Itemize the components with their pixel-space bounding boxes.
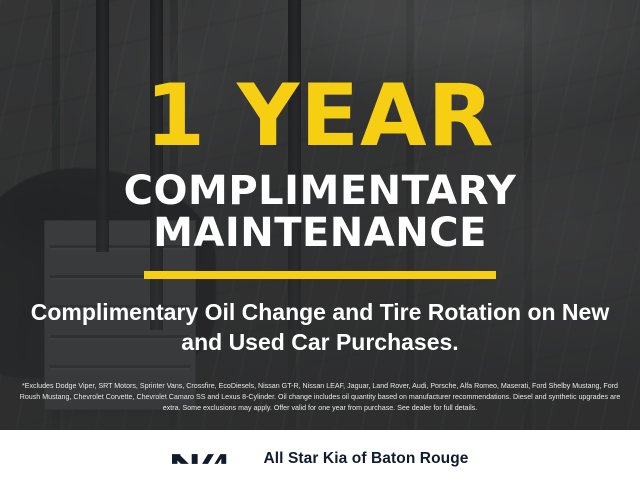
disclaimer-fine-print: *Excludes Dodge Viper, SRT Motors, Sprin… <box>3 381 637 413</box>
footer-bar: All Star Kia of Baton Rouge <box>0 430 640 488</box>
headline-complimentary: COMPLIMENTARY <box>124 170 517 213</box>
headline-maintenance: MAINTENANCE <box>153 212 487 255</box>
promo-banner: 1 YEAR COMPLIMENTARY MAINTENANCE Complim… <box>0 0 640 488</box>
subheadline-text: Complimentary Oil Change and Tire Rotati… <box>20 298 620 357</box>
dealer-name: All Star Kia of Baton Rouge <box>263 450 468 468</box>
yellow-divider-bar <box>144 271 496 279</box>
kia-logo <box>171 449 245 469</box>
headline-year: 1 YEAR <box>145 76 495 158</box>
hero-section: 1 YEAR COMPLIMENTARY MAINTENANCE Complim… <box>0 0 640 430</box>
hero-content: 1 YEAR COMPLIMENTARY MAINTENANCE Complim… <box>0 0 640 430</box>
